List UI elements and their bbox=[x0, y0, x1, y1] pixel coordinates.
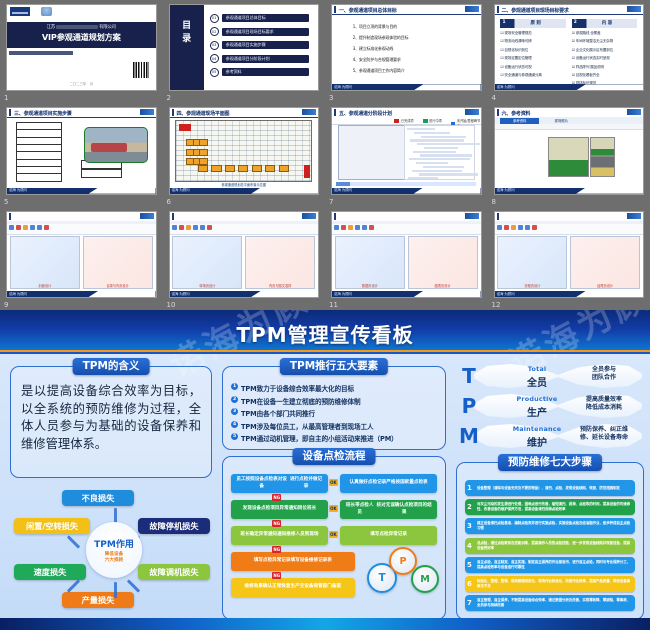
preview-caption: 内页与图文混排 bbox=[246, 283, 314, 288]
board-header: TPM管理宣传看板 诺海为顾问 诺海为顾问 bbox=[0, 310, 650, 354]
toc-bar: 参观通道项目分阶段计划 bbox=[222, 55, 310, 63]
flow-step-right: 班长带点检人员核对无误确认点检项目的结果 bbox=[340, 500, 437, 519]
editor-canvas: 转场页设计 内页与图文混排 bbox=[172, 236, 315, 289]
thumbnail-cell[interactable]: 诺海 为顾问 转场页设计 内页与图文混排 10 bbox=[163, 207, 326, 310]
layout-block bbox=[211, 165, 221, 172]
loss-center-subtitle: 降低设备六大损耗 bbox=[105, 552, 123, 564]
column-item: ☑ 参观路线 全覆盖 bbox=[572, 31, 637, 36]
column-item: ☑ 车间环境整洁无尘无杂物 bbox=[572, 39, 637, 44]
ok-badge: OK bbox=[329, 505, 338, 512]
tpm-meaning-text: 是以提高设备综合效率为目标，以全系统的预防维修为过程，全体人员参与为基础的设备保… bbox=[21, 383, 201, 453]
letter-meaning: Productive 生产 bbox=[508, 395, 566, 419]
letter-description: 预防保养、纠正维修、延长设备寿命 bbox=[568, 426, 640, 443]
slide-footer bbox=[7, 291, 156, 297]
step-number: 6 bbox=[467, 580, 472, 588]
slide-footer bbox=[7, 188, 156, 194]
panel-caption-five-elements: TPM推行五大要素 bbox=[280, 358, 388, 375]
thumbnail-cell[interactable]: 诺海 为顾问 数据页设计 图表页设计 11 bbox=[325, 207, 488, 310]
gantt-row bbox=[408, 177, 438, 179]
preview-caption: 结尾页设计 bbox=[571, 283, 639, 288]
tpm-letter-row: M Maintenance 维护 预防保养、纠正维修、延长设备寿命 bbox=[456, 422, 642, 450]
slide-thumbnail[interactable]: 六、参考资料 诺海 为顾问 参考资料 现场照片 bbox=[494, 107, 645, 194]
qr-code-icon bbox=[133, 62, 149, 78]
slide-number: 12 bbox=[492, 300, 501, 310]
slide-logo bbox=[627, 213, 641, 219]
slide-footer-text: 诺海 为顾问 bbox=[9, 292, 27, 297]
panel-five-elements: TPM推行五大要素 1 TPM致力于设备综合效率最大化的目标2 TPM在设备一生… bbox=[222, 366, 446, 450]
tpm-board: TPM管理宣传看板 诺海为顾问 诺海为顾问 TPM的含义 是以提高设备综合效率为… bbox=[0, 310, 650, 630]
slide-accent bbox=[172, 213, 174, 220]
slide-number: 6 bbox=[167, 197, 171, 207]
slide-header-title: 五、参观通道分阶段计划 bbox=[339, 110, 392, 117]
slide-number: 3 bbox=[329, 93, 333, 103]
slide-footer bbox=[332, 291, 481, 297]
slide-footer-text: 诺海 为顾问 bbox=[497, 292, 515, 297]
loss-chip: 速度损失 bbox=[14, 564, 86, 580]
slide-number: 10 bbox=[167, 300, 176, 310]
toc-bar: 参观通道项目实施步骤 bbox=[222, 41, 310, 49]
step-item: 5 自主点检，自主制定、自主实施，制定自主保养的作业基准书，进行自主点检，同时与… bbox=[465, 557, 635, 573]
slide-footer-text: 诺海 为顾问 bbox=[334, 85, 352, 90]
column-item: ☑ 物流动线清晰可辨 bbox=[500, 39, 565, 44]
tpm-letter: T bbox=[456, 362, 482, 390]
column-item: ☑ 企业文化展示区布置到位 bbox=[572, 48, 637, 53]
ng-badge: NG bbox=[272, 546, 281, 553]
column-item: ☑ 现场安全管理规范 bbox=[500, 31, 565, 36]
flow-step-left: 班长确定异常通知通知维修人员到现场 bbox=[231, 526, 328, 545]
step-text: 总点检，通过点检教育及技能训练，提高操作人员的点检技能，进一步发现设备缺陷并恢复… bbox=[477, 541, 631, 551]
slide-logo bbox=[627, 6, 641, 12]
slide-header-title: 三、参观通道项目实施步骤 bbox=[14, 110, 72, 117]
preview-caption: 封面设计 bbox=[11, 283, 79, 288]
step-item: 6 标准化、整理、整顿、现场管理彻底化、现场作业标准化、改善作业效率、提高产品质… bbox=[465, 576, 635, 592]
layout-block bbox=[238, 165, 248, 172]
editor-toolbar bbox=[9, 225, 49, 230]
step-number: 3 bbox=[467, 522, 472, 530]
floor-plan bbox=[175, 120, 312, 181]
toolbar-icon[interactable] bbox=[341, 225, 346, 230]
layout-block bbox=[225, 165, 235, 172]
board-footer-bar bbox=[0, 618, 650, 630]
toolbar-icon[interactable] bbox=[511, 225, 516, 230]
toc-label: 参观通道项目总体目标 bbox=[226, 15, 266, 21]
step-number: 2 bbox=[467, 503, 472, 511]
flow-step-right: 认真做好点检记录严格按国家量点检表 bbox=[340, 474, 437, 493]
slide-thumbnail[interactable]: 一、参观通道项目总体目标 诺海 为顾问1、项目立项的背景与目的2、提升制造现场参… bbox=[331, 4, 482, 91]
slide-preview[interactable]: 封面设计 bbox=[10, 236, 80, 289]
slide-number: 8 bbox=[492, 197, 496, 207]
slide-footer bbox=[332, 84, 481, 90]
slide-thumbnail[interactable]: 江苏有限公司 VIP参观通道规划方案 二〇二三年 月 bbox=[6, 4, 157, 91]
column-item: ☑ 目视化看板齐全 bbox=[572, 73, 637, 78]
toolbar-icon[interactable] bbox=[16, 225, 21, 230]
column-number: 1 bbox=[502, 20, 505, 25]
five-elements-list: 1 TPM致力于设备综合效率最大化的目标2 TPM在设备一生建立彻底的预防维修体… bbox=[231, 383, 439, 446]
tab-reference[interactable]: 参考资料 bbox=[500, 118, 539, 124]
toc-heading: 目录 bbox=[170, 20, 204, 46]
cover-tagline bbox=[9, 51, 73, 55]
toolbar-icon[interactable] bbox=[172, 225, 177, 230]
toc-item[interactable]: 01 参观通道项目总体目标 bbox=[210, 14, 310, 23]
toolbar-icon[interactable] bbox=[355, 225, 360, 230]
slide-footer-text: 诺海 为顾问 bbox=[9, 188, 27, 193]
content-column: 1原 则 ☑ 现场安全管理规范☑ 物流动线清晰可辨☑ 目视化标识到位☑ 现场定置… bbox=[500, 19, 565, 78]
letter-english: Total bbox=[508, 365, 566, 373]
toolbar-icon[interactable] bbox=[9, 225, 14, 230]
toc-sidebar: 目录 bbox=[170, 5, 204, 90]
gear-cluster: TPM bbox=[367, 547, 441, 593]
room-image-side bbox=[590, 137, 616, 156]
letter-chinese: 生产 bbox=[508, 404, 566, 419]
flow-node bbox=[16, 173, 63, 182]
building-icon bbox=[41, 7, 52, 16]
toolbar-icon[interactable] bbox=[37, 225, 42, 230]
slide-thumbnail[interactable]: 目录 01 参观通道项目总体目标 02 参观通道项目现场目标要求 03 参观通道… bbox=[169, 4, 320, 91]
gantt-row bbox=[419, 173, 478, 175]
toolbar-icon[interactable] bbox=[23, 225, 28, 230]
site-photo bbox=[84, 127, 148, 163]
slide-accent bbox=[334, 6, 336, 13]
slide-number: 5 bbox=[4, 197, 8, 207]
thumbnail-cell[interactable]: 目录 01 参观通道项目总体目标 02 参观通道项目现场目标要求 03 参观通道… bbox=[163, 0, 326, 103]
preview-caption: 数据页设计 bbox=[336, 283, 404, 288]
column-item: ☑ 现场标识规范 bbox=[572, 81, 637, 86]
letter-description: 提高质量效率降低成本消耗 bbox=[568, 396, 640, 413]
gantt-row bbox=[416, 162, 448, 164]
toolbar-icon[interactable] bbox=[369, 225, 374, 230]
toolbar-icon[interactable] bbox=[348, 225, 353, 230]
gantt-legend: 已完成项进行中项未开始/里程碑节点 bbox=[332, 117, 481, 125]
subheader-strip bbox=[495, 124, 644, 130]
editor-ribbon bbox=[495, 221, 644, 235]
five-element-text: TPM通过动机管理，即自主的小组活动来推进（PM） bbox=[241, 433, 398, 443]
step-text: 建立设备清扫点检基准，编制点检表并进行实施点检，实施设备点检及给油脂作业，逐步养… bbox=[477, 521, 631, 531]
toolbar-icon[interactable] bbox=[525, 225, 530, 230]
slide-thumbnail[interactable]: 诺海 为顾问 封面设计 目录与内页设计 bbox=[6, 211, 157, 298]
letter-chinese: 全员 bbox=[508, 374, 566, 389]
toolbar-icon[interactable] bbox=[179, 225, 184, 230]
ng-badge: NG bbox=[272, 572, 281, 579]
panel-caption-flow: 设备点检流程 bbox=[293, 448, 376, 465]
thumbnail-cell[interactable]: 五、参观通道分阶段计划 诺海 为顾问已完成项进行中项未开始/里程碑节点 7 bbox=[325, 103, 488, 206]
gantt-timeline bbox=[336, 182, 476, 186]
slide-logo bbox=[465, 213, 479, 219]
thumbnail-cell[interactable]: 诺海 为顾问 流程页设计 结尾页设计 12 bbox=[488, 207, 650, 310]
gantt-row bbox=[409, 158, 470, 160]
layout-block bbox=[279, 165, 289, 172]
plan-marker bbox=[304, 165, 309, 178]
toolbar-icon[interactable] bbox=[30, 225, 35, 230]
editor-toolbar bbox=[497, 225, 537, 230]
gantt-row bbox=[420, 154, 472, 156]
slide-preview[interactable]: 图表页设计 bbox=[408, 236, 478, 289]
room-image-main bbox=[548, 137, 589, 177]
slide-footer-text: 诺海 为顾问 bbox=[172, 292, 190, 297]
toolbar-icon[interactable] bbox=[518, 225, 523, 230]
editor-ribbon bbox=[7, 221, 156, 235]
loss-arrow-icon bbox=[67, 535, 80, 548]
slide-thumbnail-grid: 江苏有限公司 VIP参观通道规划方案 二〇二三年 月 1目录 01 参观通道项目… bbox=[0, 0, 650, 310]
toolbar-icon[interactable] bbox=[504, 225, 509, 230]
editor-canvas: 封面设计 目录与内页设计 bbox=[10, 236, 153, 289]
letter-english: Maintenance bbox=[508, 425, 566, 433]
toc-bar: 参观通道项目总体目标 bbox=[222, 14, 310, 22]
loss-chip: 产量损失 bbox=[62, 592, 134, 608]
slide-footer-text: 诺海 为顾问 bbox=[334, 292, 352, 297]
step-number: 7 bbox=[467, 599, 472, 607]
slide-header-title: 一、参观通道项目总体目标 bbox=[339, 7, 397, 14]
thumbnail-cell[interactable]: 诺海 为顾问 封面设计 目录与内页设计 9 bbox=[0, 207, 163, 310]
toc-badge: 03 bbox=[210, 41, 219, 50]
panel-six-losses: TPM作用 降低设备六大损耗 不良损失故障停机损失故障调机损失产量损失速度损失闲… bbox=[10, 482, 210, 618]
column-header: 1原 则 bbox=[500, 19, 565, 28]
column-item: ☑ 安全通道与参观通道分离 bbox=[500, 73, 565, 78]
five-element-text: TPM在设备一生建立彻底的预防维修体制 bbox=[241, 396, 361, 406]
slide-logo bbox=[302, 109, 316, 115]
loss-chip: 故障停机损失 bbox=[138, 518, 210, 534]
toc-badge: 01 bbox=[210, 14, 219, 23]
thumbnail-cell[interactable]: 江苏有限公司 VIP参观通道规划方案 二〇二三年 月 1 bbox=[0, 0, 163, 103]
slide-number: 9 bbox=[4, 300, 8, 310]
slide-accent bbox=[334, 109, 336, 116]
screenshot-root: 江苏有限公司 VIP参观通道规划方案 二〇二三年 月 1目录 01 参观通道项目… bbox=[0, 0, 650, 630]
slide-thumbnail[interactable]: 诺海 为顾问 转场页设计 内页与图文混排 bbox=[169, 211, 320, 298]
step-number: 4 bbox=[467, 542, 472, 550]
company-logo bbox=[10, 7, 30, 16]
slide-footer bbox=[332, 188, 481, 194]
flow-row: 员工按照设备点检表对设备进行点检并做记录OK认真做好点检记录严格按国家量点检表 bbox=[231, 474, 437, 493]
toc-label: 参观通道项目实施步骤 bbox=[226, 42, 266, 48]
flow-step-left: 员工按照设备点检表对设备进行点检并做记录 bbox=[231, 474, 328, 493]
slide-preview[interactable]: 数据页设计 bbox=[335, 236, 405, 289]
step-item: 1 设备整理（清除与设备无关及不要的物品）、清扫、点检、发现设备缺陷、恢复、防范… bbox=[465, 480, 635, 496]
slide-accent bbox=[497, 213, 499, 220]
gantt-row bbox=[423, 166, 464, 168]
toolbar-icon[interactable] bbox=[200, 225, 205, 230]
step-number: 1 bbox=[467, 484, 472, 492]
ok-badge: OK bbox=[329, 479, 338, 486]
toolbar-icon[interactable] bbox=[44, 225, 49, 230]
thumbnail-cell[interactable]: 三、参观通道项目实施步骤 诺海 为顾问 5 bbox=[0, 103, 163, 206]
step-text: 对灰尘污染的发生源进行处理，困难点进行改善，缩短清扫、润滑、点检等的时间，提高设… bbox=[477, 502, 631, 512]
flow-step-left: 发现设备点检项目异常通知岗位班长 bbox=[231, 500, 328, 519]
slide-preview[interactable]: 目录与内页设计 bbox=[83, 236, 153, 289]
toc-badge: 02 bbox=[210, 27, 219, 36]
slide-number: 2 bbox=[167, 93, 171, 103]
panel-caption-meaning: TPM的含义 bbox=[73, 358, 150, 375]
slide-header-title: 四、参观通道现场平面图 bbox=[177, 110, 230, 117]
slide-accent bbox=[172, 109, 174, 116]
slide-preview[interactable]: 流程页设计 bbox=[497, 236, 567, 289]
gantt-legend-item: 进行中项 bbox=[423, 118, 442, 123]
bullet-item: 1、项目立项的背景与目的 bbox=[353, 24, 409, 30]
slide-header-title: 六、参考资料 bbox=[502, 110, 531, 117]
five-element-text: TPM涉及每位员工，从最高管理者到现场工人 bbox=[241, 421, 373, 431]
gantt-table bbox=[404, 125, 474, 180]
tpm-letter-row: P Productive 生产 提高质量效率降低成本消耗 bbox=[456, 392, 642, 420]
slide-thumbnail[interactable]: 诺海 为顾问 数据页设计 图表页设计 bbox=[331, 211, 482, 298]
thumbnail-cell[interactable]: 二、参观通道项目现场目标要求 诺海 为顾问 1原 则 ☑ 现场安全管理规范☑ 物… bbox=[488, 0, 650, 103]
slide-accent bbox=[9, 109, 11, 116]
column-item: ☑ 现场定置定位管理 bbox=[500, 56, 565, 61]
panel-caption-steps: 预防维修七大步骤 bbox=[498, 454, 602, 471]
thumbnail-cell[interactable]: 一、参观通道项目总体目标 诺海 为顾问1、项目立项的背景与目的2、提升制造现场参… bbox=[325, 0, 488, 103]
step-item: 7 自主管理、自主保养，不断提高设备综合效率，通过数据分析及改善，实现零故障、零… bbox=[465, 595, 635, 611]
flow-row: 发现设备点检项目异常通知岗位班长OK班长带点检人员核对无误确认点检项目的结果 bbox=[231, 500, 437, 519]
slide-preview[interactable]: 转场页设计 bbox=[172, 236, 242, 289]
step-item: 3 建立设备清扫点检基准，编制点检表并进行实施点检，实施设备点检及给油脂作业，逐… bbox=[465, 518, 635, 534]
slide-preview[interactable]: 结尾页设计 bbox=[570, 236, 640, 289]
ng-badge: NG bbox=[272, 520, 281, 527]
slide-number: 11 bbox=[329, 300, 338, 310]
five-element-number: 4 bbox=[231, 421, 238, 428]
gantt-row bbox=[424, 147, 458, 149]
toc-bar: 参观通道项目现场目标要求 bbox=[222, 28, 310, 36]
loss-center-title: TPM作用 bbox=[94, 537, 134, 550]
column-number: 2 bbox=[574, 20, 577, 25]
flow-row: 班长确定异常通知通知维修人员到现场OK填写点检异常记录 bbox=[231, 526, 437, 545]
toc-label: 参考资料 bbox=[226, 69, 242, 75]
panel-inspection-flow: 设备点检流程 员工按照设备点检表对设备进行点检并做记录OK认真做好点检记录严格按… bbox=[222, 456, 446, 620]
gear-icon: M bbox=[411, 565, 439, 593]
ok-badge: OK bbox=[329, 531, 338, 538]
layout-block bbox=[265, 165, 275, 172]
legend-swatch bbox=[423, 119, 428, 122]
five-element-number: 5 bbox=[231, 433, 238, 440]
preview-caption: 流程页设计 bbox=[498, 283, 566, 288]
column-item: ☑ 设备运行状态可视 bbox=[500, 65, 565, 70]
gantt-row bbox=[407, 128, 434, 130]
slide-number: 1 bbox=[4, 93, 8, 103]
toolbar-icon[interactable] bbox=[193, 225, 198, 230]
letter-english: Productive bbox=[508, 395, 566, 403]
tab-photos[interactable]: 现场照片 bbox=[545, 118, 578, 124]
slide-preview[interactable]: 内页与图文混排 bbox=[245, 236, 315, 289]
slide-logo bbox=[302, 213, 316, 219]
slide-thumbnail[interactable]: 二、参观通道项目现场目标要求 诺海 为顾问 1原 则 ☑ 现场安全管理规范☑ 物… bbox=[494, 4, 645, 91]
tpm-letter: P bbox=[456, 392, 482, 420]
toc-label: 参观通道项目现场目标要求 bbox=[226, 29, 274, 35]
step-text: 标准化、整理、整顿、现场管理彻底化、现场作业标准化、改善作业效率、提高产品质量、… bbox=[477, 579, 631, 589]
loss-chip: 闲置/空转损失 bbox=[14, 518, 90, 534]
editor-toolbar bbox=[172, 225, 212, 230]
room-image-detail bbox=[590, 156, 616, 177]
cover-title: VIP参观通道规划方案 bbox=[7, 31, 156, 43]
slide-logo bbox=[465, 6, 479, 12]
gantt-legend-item: 已完成项 bbox=[394, 118, 413, 123]
loss-arrow-icon bbox=[127, 579, 140, 592]
gantt-row bbox=[421, 136, 466, 138]
five-element-number: 3 bbox=[231, 408, 238, 415]
layout-block bbox=[252, 165, 262, 172]
layout-block bbox=[199, 149, 208, 156]
slide-thumbnail[interactable]: 四、参观通道现场平面图 诺海 为顾问 参观通道规划总平面布置示意图 bbox=[169, 107, 320, 194]
toc-item[interactable]: 02 参观通道项目现场目标要求 bbox=[210, 27, 310, 36]
toolbar-icon[interactable] bbox=[497, 225, 502, 230]
slide-footer bbox=[170, 188, 319, 194]
flow-step-left: 维修效果确认正常恢复生产交设备保管部门备案 bbox=[231, 578, 355, 597]
letter-meaning: Total 全员 bbox=[508, 365, 566, 389]
five-element-number: 2 bbox=[231, 396, 238, 403]
gantt-row bbox=[413, 151, 456, 153]
slide-footer-text: 诺海 为顾问 bbox=[172, 188, 190, 193]
editor-canvas: 数据页设计 图表页设计 bbox=[335, 236, 478, 289]
toolbar-icon[interactable] bbox=[532, 225, 537, 230]
editor-canvas: 流程页设计 结尾页设计 bbox=[497, 236, 640, 289]
flow-step-right: 填写点检异常记录 bbox=[340, 526, 437, 545]
toolbar-icon[interactable] bbox=[207, 225, 212, 230]
bullet-item: 3、建立标准化参观动线 bbox=[353, 46, 409, 52]
toolbar-icon[interactable] bbox=[186, 225, 191, 230]
content-column: 2内 容 ☑ 参观路线 全覆盖☑ 车间环境整洁无尘无杂物☑ 企业文化展示区布置到… bbox=[572, 19, 637, 92]
letter-chinese: 维护 bbox=[508, 434, 566, 449]
step-text: 自主点检，自主制定、自主实施，制定自主保养的作业基准书，进行自主点检，同时与专业… bbox=[477, 560, 631, 570]
preview-caption: 目录与内页设计 bbox=[84, 283, 152, 288]
five-element-item: 2 TPM在设备一生建立彻底的预防维修体制 bbox=[231, 396, 439, 406]
slide-logo bbox=[627, 109, 641, 115]
slide-number: 4 bbox=[492, 93, 496, 103]
preview-caption: 图表页设计 bbox=[409, 283, 477, 288]
slide-accent bbox=[9, 213, 11, 220]
slide-accent bbox=[334, 213, 336, 220]
toc-item[interactable]: 03 参观通道项目实施步骤 bbox=[210, 41, 310, 50]
toc-label: 参观通道项目分阶段计划 bbox=[226, 56, 270, 62]
steps-list: 1 设备整理（清除与设备无关及不要的物品）、清扫、点检、发现设备缺陷、恢复、防范… bbox=[465, 480, 635, 614]
slide-logo bbox=[140, 109, 154, 115]
bullet-item: 5、参观通道项目工作内容简介 bbox=[353, 68, 409, 74]
toc-list: 01 参观通道项目总体目标 02 参观通道项目现场目标要求 03 参观通道项目实… bbox=[210, 14, 310, 82]
loss-chip: 不良损失 bbox=[62, 490, 134, 506]
editor-toolbar bbox=[334, 225, 374, 230]
panel-tpm-letters: T Total 全员 全员参与团队合作 P Productive 生产 提高质量… bbox=[456, 362, 642, 454]
editor-ruler bbox=[170, 221, 319, 225]
slide-footer bbox=[495, 291, 644, 297]
bullet-list: 1、项目立项的背景与目的2、提升制造现场参观体验的目标3、建立标准化参观动线4、… bbox=[353, 24, 409, 79]
gantt-row bbox=[414, 132, 450, 134]
tpm-letter-row: T Total 全员 全员参与团队合作 bbox=[456, 362, 642, 390]
thumbnail-cell[interactable]: 六、参考资料 诺海 为顾问 参考资料 现场照片 8 bbox=[488, 103, 650, 206]
editor-ruler bbox=[332, 221, 481, 225]
editor-ruler bbox=[495, 221, 644, 225]
slide-footer-text: 诺海 为顾问 bbox=[334, 188, 352, 193]
layout-block bbox=[199, 139, 208, 146]
toc-item[interactable]: 05 参考资料 bbox=[210, 68, 310, 77]
slide-thumbnail[interactable]: 五、参观通道分阶段计划 诺海 为顾问已完成项进行中项未开始/里程碑节点 bbox=[331, 107, 482, 194]
five-element-item: 1 TPM致力于设备综合效率最大化的目标 bbox=[231, 383, 439, 393]
legend-swatch bbox=[394, 119, 399, 122]
slide-thumbnail[interactable]: 诺海 为顾问 流程页设计 结尾页设计 bbox=[494, 211, 645, 298]
five-element-number: 1 bbox=[231, 383, 238, 390]
five-element-item: 5 TPM通过动机管理，即自主的小组活动来推进（PM） bbox=[231, 433, 439, 443]
plan-marker bbox=[179, 124, 191, 131]
letter-description: 全员参与团队合作 bbox=[568, 366, 640, 383]
five-element-item: 3 TPM由各个部门共同推行 bbox=[231, 408, 439, 418]
slide-logo bbox=[465, 109, 479, 115]
editor-ruler bbox=[7, 221, 156, 225]
column-title: 内 容 bbox=[602, 20, 612, 26]
loss-arrow-icon bbox=[67, 579, 80, 592]
ng-badge: NG bbox=[272, 494, 281, 501]
thumbnail-cell[interactable]: 四、参观通道现场平面图 诺海 为顾问 参观通道规划总平面布置示意图 6 bbox=[163, 103, 326, 206]
slide-thumbnail[interactable]: 三、参观通道项目实施步骤 诺海 为顾问 bbox=[6, 107, 157, 194]
toc-item[interactable]: 04 参观通道项目分阶段计划 bbox=[210, 54, 310, 63]
five-element-text: TPM由各个部门共同推行 bbox=[241, 408, 315, 418]
toolbar-icon[interactable] bbox=[362, 225, 367, 230]
slide-header-title: 二、参观通道项目现场目标要求 bbox=[502, 7, 569, 14]
gantt-row bbox=[417, 143, 480, 145]
cover-band: 江苏有限公司 VIP参观通道规划方案 bbox=[7, 22, 156, 48]
toolbar-icon[interactable] bbox=[334, 225, 339, 230]
